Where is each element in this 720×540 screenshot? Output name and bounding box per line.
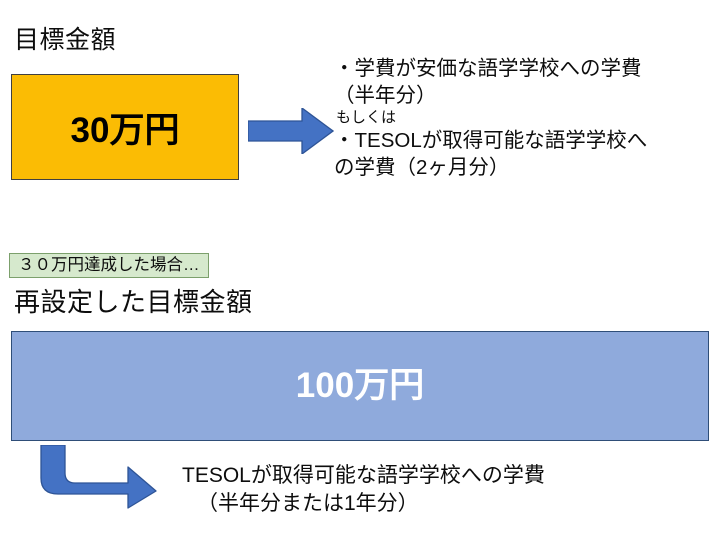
detail-line: ・学費が安価な語学学校への学費 xyxy=(334,56,714,83)
goal-amount-label: 30万円 xyxy=(71,102,180,153)
slide-canvas: 目標金額 30万円 ・学費が安価な語学学校への学費 （半年分） もしくは ・TE… xyxy=(0,0,720,540)
condition-tag: ３０万円達成した場合… xyxy=(9,253,209,278)
right-arrow-icon xyxy=(248,108,334,154)
bent-down-right-arrow-icon xyxy=(36,445,158,509)
caption-line: （半年分または1年分） xyxy=(182,490,692,518)
regoal-amount-box: 100万円 xyxy=(11,331,709,441)
detail-line: ・TESOLが取得可能な語学学校へ xyxy=(334,128,714,155)
goal-detail-text: ・学費が安価な語学学校への学費 （半年分） もしくは ・TESOLが取得可能な語… xyxy=(334,56,714,181)
caption-line: TESOLが取得可能な語学学校への学費 xyxy=(182,462,692,490)
regoal-amount-label: 100万円 xyxy=(296,357,424,408)
goal-heading: 目標金額 xyxy=(14,28,116,53)
detail-line: （半年分） xyxy=(334,83,714,110)
detail-line: の学費（2ヶ月分） xyxy=(334,155,714,182)
regoal-caption: TESOLが取得可能な語学学校への学費 （半年分または1年分） xyxy=(182,462,692,518)
goal-amount-box: 30万円 xyxy=(11,74,239,180)
regoal-heading: 再設定した目標金額 xyxy=(14,289,253,315)
detail-line-alternative: もしくは xyxy=(334,109,714,128)
